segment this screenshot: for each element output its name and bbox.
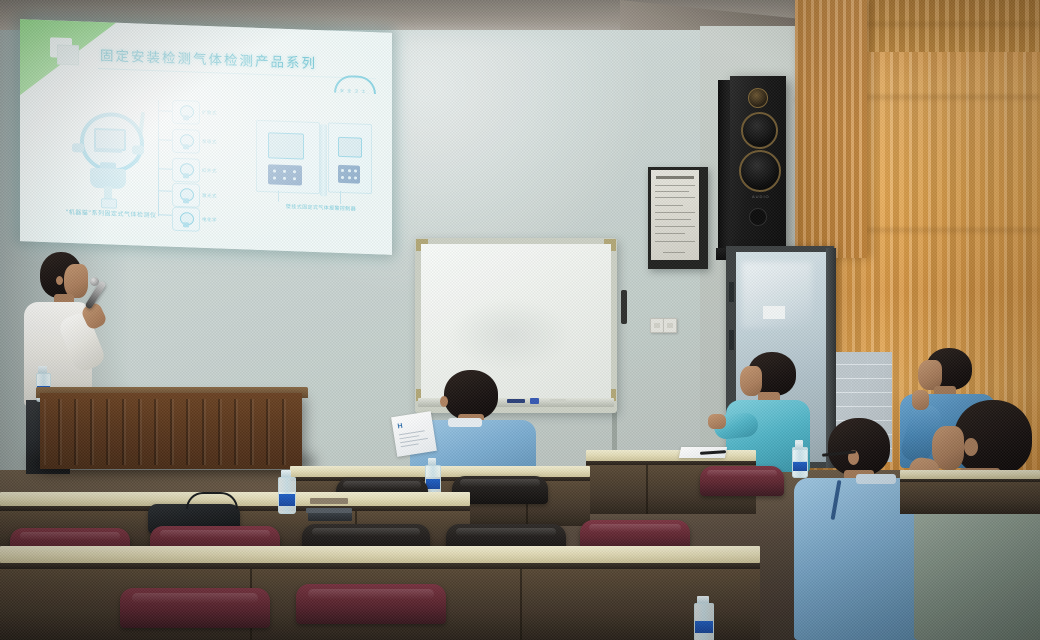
notice-heading — [656, 176, 694, 179]
light-switch-right[interactable] — [663, 318, 677, 333]
tower-speaker: AUDIO — [730, 76, 786, 252]
slide-right-caption: 壁挂式固定式气体报警控制器 — [276, 203, 366, 213]
bottle-body — [694, 603, 714, 640]
slide-title: 固定安装检测气体检测产品系列 — [100, 44, 317, 72]
attendee1-ear — [440, 396, 448, 407]
speaker-brand-badge: AUDIO — [752, 194, 770, 199]
variant-foot-3 — [183, 173, 189, 178]
variant-card-4 — [172, 183, 200, 208]
whiteboard-side-clip — [621, 290, 627, 324]
variant-card-1 — [172, 100, 200, 125]
variant-label-4: 激光式 — [202, 193, 217, 200]
variant-foot-2 — [183, 144, 189, 149]
handout-header: H — [397, 423, 403, 431]
variant-tree-spine — [158, 100, 159, 216]
chair-right-mid[interactable] — [700, 466, 784, 496]
door-hinge-upper — [729, 282, 734, 302]
variant-label-3: 红外式 — [202, 168, 217, 175]
panel-small-display — [338, 137, 362, 158]
variant-foot-5 — [183, 222, 189, 227]
bottle-body — [278, 477, 296, 514]
water-bottle-front[interactable] — [792, 442, 806, 476]
attendee3-hand — [912, 390, 929, 410]
chair-row1-b[interactable] — [296, 584, 446, 624]
desk-right-rear — [900, 470, 1040, 514]
framed-notice-paper — [651, 170, 699, 260]
podium-panel-texture — [44, 399, 298, 465]
slide-left-caption: "机器猫"系列固定式气体检测仪 — [36, 206, 186, 221]
gas-detector-illustration — [70, 103, 150, 206]
presenter-ear — [56, 276, 63, 285]
variant-foot-4 — [183, 198, 189, 203]
variant-card-3 — [172, 158, 200, 183]
controller-panels-illustration: 壁挂式固定式气体报警控制器 — [256, 120, 376, 216]
chair-row1-a[interactable] — [120, 588, 270, 628]
detector-port-right — [132, 145, 144, 154]
variant-arm-4 — [158, 190, 172, 192]
light-switch-left[interactable] — [650, 318, 664, 333]
projection-screen: 固定安装检测气体检测产品系列 安 全 卫 士 "机器猫"系列固定式气体检测仪 — [20, 19, 392, 255]
attendee-front-right — [940, 400, 1040, 640]
podium — [40, 393, 302, 469]
water-bottle-row2[interactable] — [278, 470, 294, 512]
panel-leader-line-2 — [340, 191, 341, 204]
variant-arm-1 — [158, 110, 172, 112]
bottle-label — [793, 462, 807, 471]
detector-sensor-tip — [101, 198, 117, 209]
variant-arm-3 — [158, 168, 172, 170]
notebook-3[interactable] — [310, 498, 348, 504]
notebook-2[interactable] — [306, 508, 352, 513]
panel-large-keypad — [268, 164, 302, 185]
microphone-head-icon — [90, 277, 99, 286]
attendee1-head — [444, 370, 498, 420]
variant-label-1: 扩散式 — [202, 110, 217, 117]
notebook-1[interactable] — [308, 512, 352, 521]
variant-label-2: 泵吸式 — [202, 139, 217, 146]
variant-arm-2 — [158, 139, 172, 141]
variant-card-2 — [172, 129, 200, 154]
variant-card-5 — [172, 207, 200, 232]
door-sign — [763, 306, 785, 319]
variant-foot-1 — [183, 115, 189, 120]
bottle-label — [279, 494, 295, 506]
handout-center[interactable]: H — [391, 411, 437, 457]
water-bottle-front-row[interactable] — [694, 596, 712, 640]
bottle-label — [695, 621, 713, 634]
attendee5-head — [954, 400, 1032, 476]
slide-brand-logo: 安 全 卫 士 — [334, 75, 374, 94]
controller-panel-rail — [320, 124, 327, 196]
midrange-driver-icon — [741, 112, 778, 149]
woofer-driver-icon — [739, 150, 781, 192]
panel-small-keypad — [338, 165, 360, 184]
bag-handle[interactable] — [186, 492, 238, 509]
bass-port-icon — [749, 208, 767, 226]
door-hinge-lower — [729, 330, 734, 350]
whiteboard-smudge — [450, 300, 570, 370]
controller-panel-small — [328, 122, 372, 194]
panel-leader-line-1 — [278, 191, 279, 202]
training-room-photo: 固定安装检测气体检测产品系列 安 全 卫 士 "机器猫"系列固定式气体检测仪 — [0, 0, 1040, 640]
attendee5-ear — [964, 438, 978, 456]
bottle-body — [792, 449, 808, 478]
variant-label-5: 电化学 — [202, 217, 217, 224]
logo-text: 安 全 卫 士 — [340, 88, 366, 95]
panel-large-display — [268, 132, 304, 159]
presentation-slide: 固定安装检测气体检测产品系列 安 全 卫 士 "机器猫"系列固定式气体检测仪 — [20, 19, 392, 255]
attendee4-head — [828, 418, 890, 476]
attendee2-hand — [708, 414, 726, 429]
presenter-face — [64, 264, 88, 298]
attendee1-collar — [448, 418, 482, 427]
attendee4-collar — [856, 474, 896, 484]
bottle-label — [426, 479, 440, 489]
slide-corner-square-inner-icon — [57, 45, 79, 66]
tweeter-icon — [748, 88, 768, 108]
detector-port-left — [72, 143, 84, 152]
